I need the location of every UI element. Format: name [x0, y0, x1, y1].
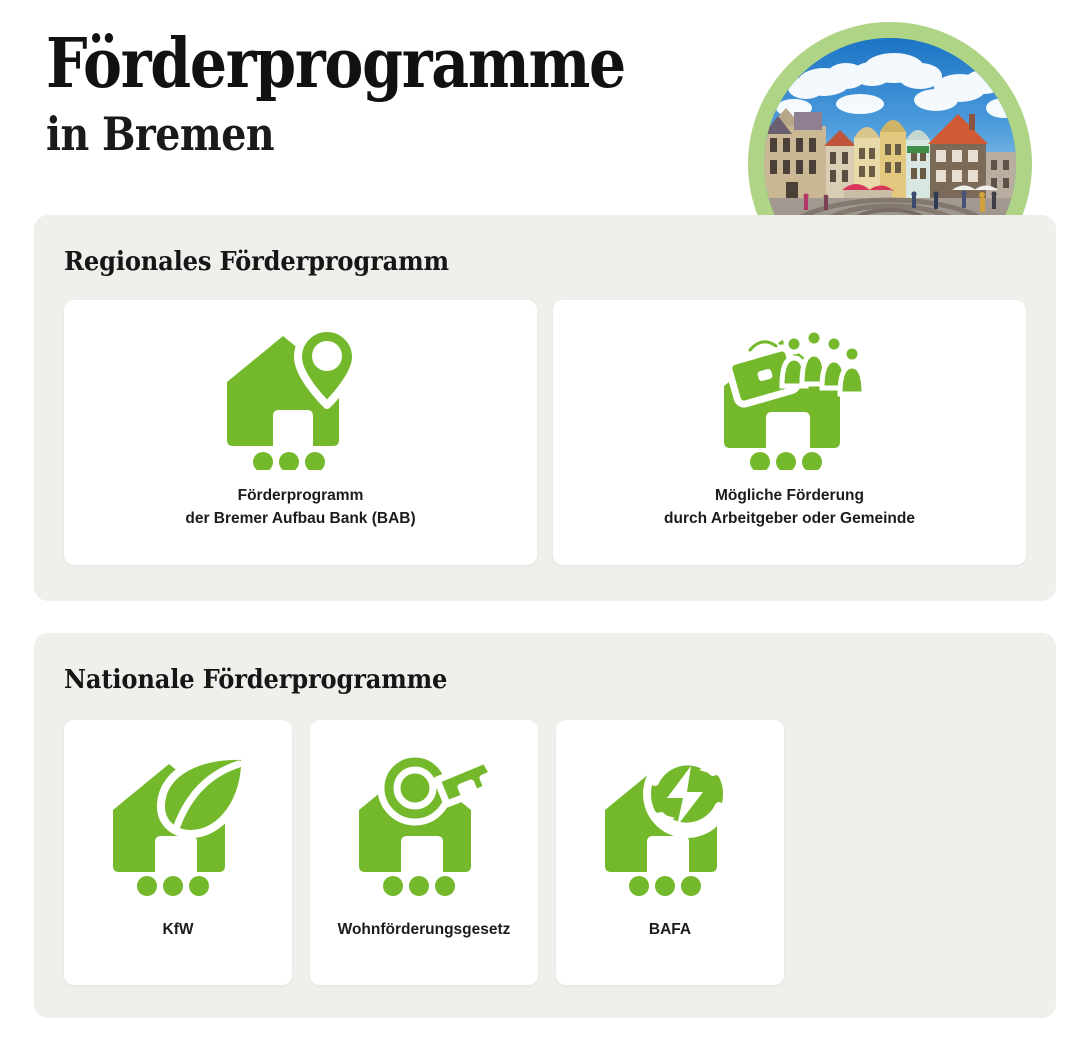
card-arbeitgeber-gemeinde[interactable]: Mögliche Förderung durch Arbeitgeber ode…	[553, 300, 1026, 565]
infographic-root: Förderprogramme in Bremen	[0, 0, 1090, 1058]
card-label-kfw: KfW	[153, 918, 204, 941]
page-header: Förderprogramme in Bremen	[46, 26, 746, 162]
section-heading-regional: Regionales Förderprogramm	[64, 247, 449, 277]
house-key-icon	[349, 746, 499, 896]
card-foerderprogramm-bab[interactable]: Förderprogramm der Bremer Aufbau Bank (B…	[64, 300, 537, 565]
card-label-gemeinde: Mögliche Förderung durch Arbeitgeber ode…	[654, 484, 925, 530]
house-location-pin-icon	[221, 320, 381, 470]
house-briefcase-people-icon	[710, 320, 870, 470]
page-subtitle: in Bremen	[46, 106, 648, 162]
card-bafa[interactable]: BAFA	[556, 720, 784, 985]
section-heading-national: Nationale Förderprogramme	[64, 665, 447, 695]
card-label-bab: Förderprogramm der Bremer Aufbau Bank (B…	[175, 484, 425, 530]
section-regional: Regionales Förderprogramm Förderprogramm…	[34, 215, 1056, 601]
house-energy-recycle-icon	[595, 746, 745, 896]
house-leaf-icon	[103, 746, 253, 896]
card-kfw[interactable]: KfW	[64, 720, 292, 985]
section-national: Nationale Förderprogramme KfW	[34, 633, 1056, 1018]
page-title: Förderprogramme	[46, 26, 648, 102]
card-wohnfoerderungsgesetz[interactable]: Wohnförderungsgesetz	[310, 720, 538, 985]
card-label-wohnfoerderungsgesetz: Wohnförderungsgesetz	[328, 918, 521, 941]
card-label-bafa: BAFA	[639, 918, 701, 941]
